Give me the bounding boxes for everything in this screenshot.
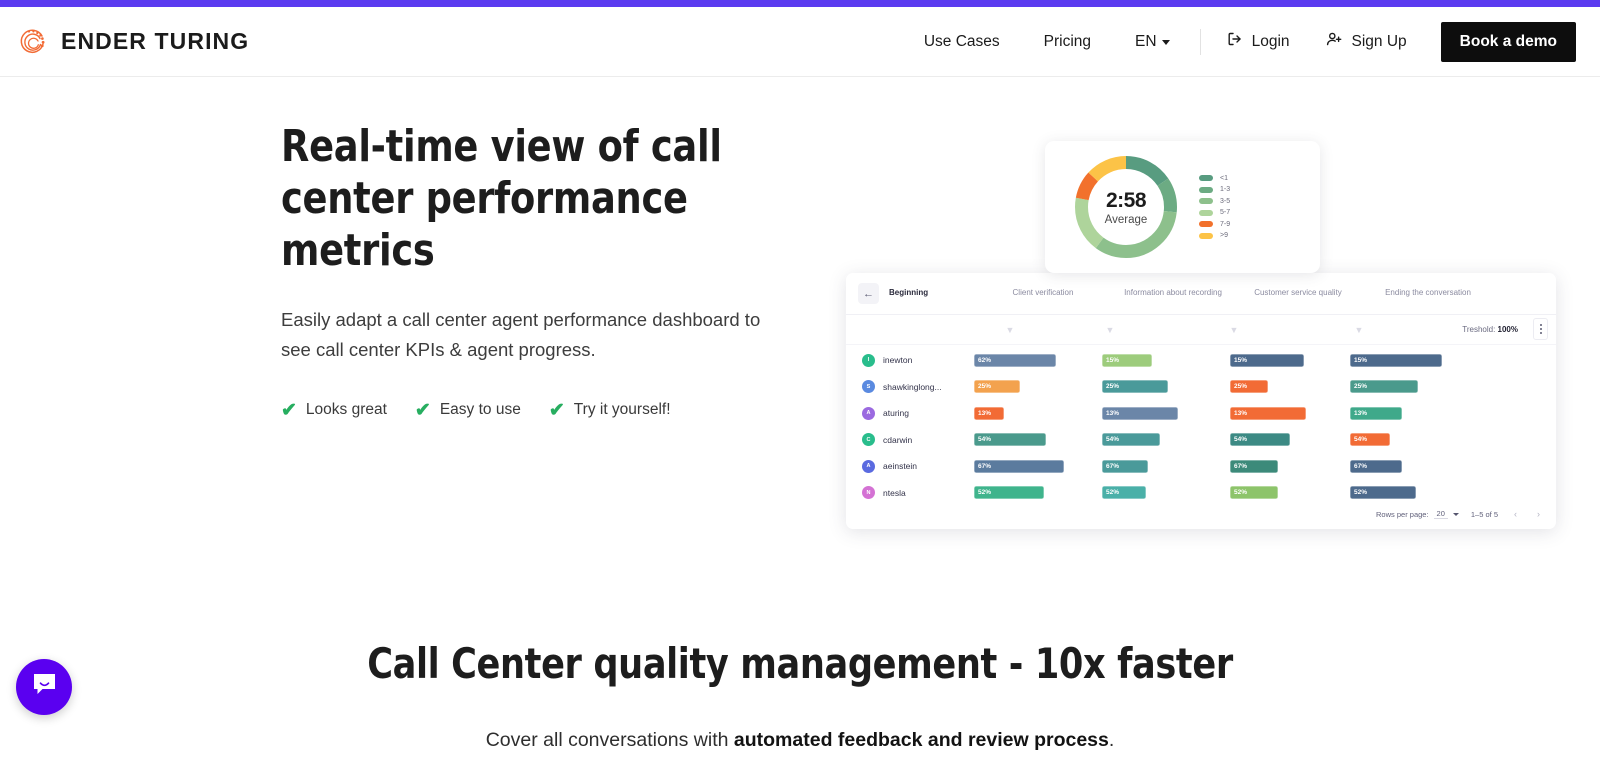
score-cell[interactable]: 15% — [1102, 354, 1230, 367]
score-bar: 15% — [1350, 354, 1442, 367]
check-icon: ✔ — [281, 401, 297, 420]
top-accent-bar — [0, 0, 1600, 7]
score-bar: 67% — [1102, 460, 1148, 473]
legend-label: 5-7 — [1220, 209, 1230, 216]
check-item: ✔ Looks great — [281, 401, 387, 420]
donut-label: Average — [1105, 214, 1148, 226]
legend-swatch-icon — [1199, 210, 1213, 216]
legend-row: 1-3 — [1199, 186, 1230, 193]
dashboard-footer: Rows per page: 20 1–5 of 5 ‹ › — [846, 499, 1556, 529]
legend-label: 1-3 — [1220, 186, 1230, 193]
check-label: Looks great — [306, 401, 387, 419]
column-header-beginning[interactable]: Beginning — [879, 288, 973, 299]
row-agent-cell: Nntesla — [846, 486, 974, 499]
legend-swatch-icon — [1199, 198, 1213, 204]
legend-swatch-icon — [1199, 233, 1213, 239]
score-bar: 25% — [1102, 380, 1168, 393]
legend-row: 7-9 — [1199, 221, 1230, 228]
score-bar: 15% — [1102, 354, 1152, 367]
score-bar: 52% — [1102, 486, 1146, 499]
score-bar: 13% — [1350, 407, 1402, 420]
legend-row: 5-7 — [1199, 209, 1230, 216]
check-label: Easy to use — [440, 401, 521, 419]
score-cell[interactable]: 52% — [1102, 486, 1230, 499]
column-header-ending-the-conversation[interactable]: Ending the conversation — [1363, 288, 1493, 299]
table-row[interactable]: Sshawkinglong...25%25%25%25% — [846, 374, 1556, 401]
brand-name: ENDER TURING — [61, 28, 249, 55]
legend-row: 3-5 — [1199, 198, 1230, 205]
score-bar: 54% — [1230, 433, 1290, 446]
score-bar: 67% — [1350, 460, 1402, 473]
legend-label: <1 — [1220, 175, 1228, 182]
row-agent-cell: Aaturing — [846, 407, 974, 420]
nav-link-pricing[interactable]: Pricing — [1022, 33, 1113, 51]
score-bar: 25% — [974, 380, 1020, 393]
score-cell[interactable]: 52% — [1350, 486, 1480, 499]
brand-logo[interactable]: ENDER TURING — [16, 26, 249, 58]
spiral-logo-icon — [16, 26, 48, 58]
rows-per-page-label: Rows per page: — [1376, 510, 1429, 519]
score-cell[interactable]: 13% — [1350, 407, 1480, 420]
score-cell[interactable]: 13% — [1230, 407, 1350, 420]
check-icon: ✔ — [415, 401, 431, 420]
bottom-section: Call Center quality management - 10x fas… — [0, 547, 1600, 760]
filter-icon[interactable]: ▼ — [1046, 325, 1174, 335]
legend-label: 3-5 — [1220, 198, 1230, 205]
score-bar: 52% — [1350, 486, 1416, 499]
login-button[interactable]: Login — [1209, 31, 1308, 52]
row-agent-name: cdarwin — [883, 435, 912, 445]
dashboard-table-body: Iinewton62%15%15%15%Sshawkinglong...25%2… — [846, 345, 1556, 506]
body-line1-pre: Cover all conversations with — [486, 729, 734, 751]
legend-swatch-icon — [1199, 221, 1213, 227]
score-bar: 25% — [1350, 380, 1418, 393]
chevron-right-icon[interactable]: › — [1533, 509, 1544, 519]
score-cell[interactable]: 52% — [1230, 486, 1350, 499]
rows-per-page-value: 20 — [1434, 509, 1448, 519]
score-bar: 25% — [1230, 380, 1268, 393]
score-cell[interactable]: 54% — [1102, 433, 1230, 446]
score-bar: 54% — [1350, 433, 1390, 446]
legend-row: >9 — [1199, 232, 1230, 239]
score-bar: 13% — [974, 407, 1004, 420]
dashboard-header: ← Beginning Client verification Informat… — [846, 273, 1556, 315]
score-cell[interactable]: 67% — [974, 460, 1102, 473]
body-line1-bold: automated feedback and review process — [734, 729, 1109, 751]
nav-link-use-cases[interactable]: Use Cases — [902, 33, 1022, 51]
score-bar: 54% — [1102, 433, 1160, 446]
legend-row: <1 — [1199, 175, 1230, 182]
score-cell[interactable]: 67% — [1350, 460, 1480, 473]
donut-center-text: 2:58 Average — [1075, 156, 1177, 258]
threshold-label: Treshold: 100% — [1462, 325, 1518, 334]
score-bar: 67% — [1230, 460, 1278, 473]
score-cell[interactable]: 15% — [1350, 354, 1480, 367]
signup-button[interactable]: Sign Up — [1308, 31, 1425, 52]
score-bar: 54% — [974, 433, 1046, 446]
score-cell[interactable]: 54% — [974, 433, 1102, 446]
chevron-down-icon — [1453, 513, 1459, 516]
score-cell[interactable]: 67% — [1102, 460, 1230, 473]
donut-value: 2:58 — [1106, 189, 1146, 213]
check-item: ✔ Try it yourself! — [549, 401, 671, 420]
legend-label: 7-9 — [1220, 221, 1230, 228]
legend-swatch-icon — [1199, 187, 1213, 193]
body-line1-post: . — [1109, 729, 1114, 751]
chat-launcher-button[interactable] — [16, 659, 72, 715]
section-body: Cover all conversations with automated f… — [350, 724, 1250, 760]
table-row[interactable]: Aaeinstein67%67%67%67% — [846, 453, 1556, 480]
dashboard-filter-row: ▼ ▼ ▼ ▼ Treshold: 100% — [846, 315, 1556, 345]
score-cell[interactable]: 25% — [974, 380, 1102, 393]
avatar: S — [862, 380, 875, 393]
score-bar: 13% — [1230, 407, 1306, 420]
row-agent-cell: Sshawkinglong... — [846, 380, 974, 393]
score-bar: 52% — [974, 486, 1044, 499]
score-cell[interactable]: 13% — [974, 407, 1102, 420]
donut-chart: 2:58 Average — [1075, 156, 1177, 258]
filter-icon[interactable]: ▼ — [1174, 325, 1294, 335]
hero-section: Real-time view of call center performanc… — [0, 77, 1600, 547]
hero-check-list: ✔ Looks great ✔ Easy to use ✔ Try it you… — [281, 401, 801, 420]
nav-divider — [1200, 29, 1201, 55]
section-title: Call Center quality management - 10x fas… — [56, 639, 1544, 688]
column-header-client-verification[interactable]: Client verification — [973, 288, 1113, 299]
check-item: ✔ Easy to use — [415, 401, 521, 420]
more-vertical-icon[interactable] — [1533, 318, 1548, 340]
language-label: EN — [1135, 33, 1157, 51]
row-agent-cell: Ccdarwin — [846, 433, 974, 446]
main-nav: Use Cases Pricing EN Login — [902, 22, 1576, 62]
score-cell[interactable]: 54% — [1230, 433, 1350, 446]
table-row[interactable]: Iinewton62%15%15%15% — [846, 347, 1556, 374]
page-title: Real-time view of call center performanc… — [281, 121, 765, 277]
legend-swatch-icon — [1199, 175, 1213, 181]
avatar: C — [862, 433, 875, 446]
login-arrow-icon — [1227, 31, 1243, 52]
book-demo-button[interactable]: Book a demo — [1441, 22, 1576, 62]
score-cell[interactable]: 67% — [1230, 460, 1350, 473]
score-cell[interactable]: 13% — [1102, 407, 1230, 420]
row-agent-name: aturing — [883, 408, 909, 418]
login-label: Login — [1252, 33, 1290, 51]
row-agent-name: shawkinglong... — [883, 382, 942, 392]
pagination-range: 1–5 of 5 — [1471, 510, 1498, 519]
check-label: Try it yourself! — [574, 401, 671, 419]
score-cell[interactable]: 25% — [1350, 380, 1480, 393]
avatar: A — [862, 407, 875, 420]
chevron-down-icon — [1162, 40, 1170, 45]
chevron-left-icon[interactable]: ‹ — [1510, 509, 1521, 519]
filter-icon[interactable]: ▼ — [1294, 325, 1424, 335]
row-agent-name: aeinstein — [883, 461, 917, 471]
legend-label: >9 — [1220, 232, 1228, 239]
row-agent-cell: Iinewton — [846, 354, 974, 367]
table-row[interactable]: Ccdarwin54%54%54%54% — [846, 427, 1556, 454]
score-cell[interactable]: 15% — [1230, 354, 1350, 367]
score-cell[interactable]: 25% — [1102, 380, 1230, 393]
user-plus-icon — [1326, 31, 1343, 52]
avatar: N — [862, 486, 875, 499]
column-header-information-about-recording[interactable]: Information about recording — [1113, 288, 1233, 299]
score-bar: 13% — [1102, 407, 1178, 420]
score-bar: 67% — [974, 460, 1064, 473]
score-cell[interactable]: 54% — [1350, 433, 1480, 446]
donut-legend: <11-33-55-77-9>9 — [1199, 175, 1230, 240]
row-agent-name: ntesla — [883, 488, 906, 498]
score-bar: 15% — [1230, 354, 1304, 367]
row-agent-name: inewton — [883, 355, 912, 365]
score-cell[interactable]: 52% — [974, 486, 1102, 499]
site-header: ENDER TURING Use Cases Pricing EN Login — [0, 7, 1600, 77]
agent-dashboard-card: ← Beginning Client verification Informat… — [846, 273, 1556, 529]
threshold-value: 100% — [1498, 325, 1518, 334]
table-row[interactable]: Aaturing13%13%13%13% — [846, 400, 1556, 427]
row-agent-cell: Aaeinstein — [846, 460, 974, 473]
score-cell[interactable]: 25% — [1230, 380, 1350, 393]
column-header-customer-service-quality[interactable]: Customer service quality — [1233, 288, 1363, 299]
chat-bubble-icon — [31, 671, 58, 703]
avatar: A — [862, 460, 875, 473]
check-icon: ✔ — [549, 401, 565, 420]
back-arrow-icon[interactable]: ← — [858, 283, 879, 304]
filter-icon[interactable]: ▼ — [974, 325, 1046, 335]
hero-subtitle: Easily adapt a call center agent perform… — [281, 305, 761, 365]
hero-copy: Real-time view of call center performanc… — [281, 121, 801, 420]
language-selector[interactable]: EN — [1113, 33, 1192, 51]
score-cell[interactable]: 62% — [974, 354, 1102, 367]
score-bar: 62% — [974, 354, 1056, 367]
average-time-card: 2:58 Average <11-33-55-77-9>9 — [1045, 141, 1320, 273]
avatar: I — [862, 354, 875, 367]
signup-label: Sign Up — [1352, 33, 1407, 51]
rows-per-page-control[interactable]: Rows per page: 20 — [1376, 509, 1459, 519]
score-bar: 52% — [1230, 486, 1278, 499]
